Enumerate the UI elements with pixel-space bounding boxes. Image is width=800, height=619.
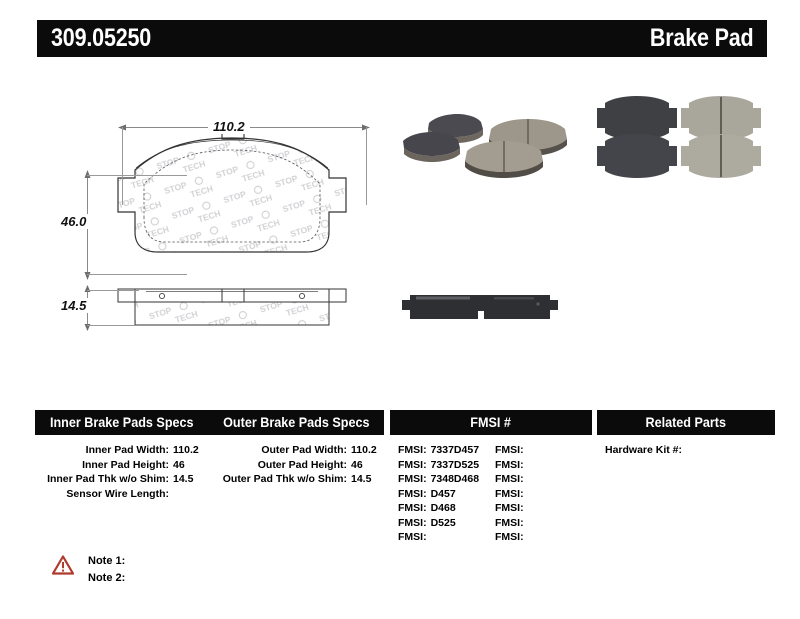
fmsi-label: FMSI: <box>398 458 431 473</box>
photo-pad-edge <box>398 278 563 338</box>
fmsi-row: FMSI: D457 <box>398 487 495 502</box>
fmsi-row: FMSI: 7337D457 <box>398 443 495 458</box>
fmsi-subcolumn-left: FMSI: 7337D457 FMSI: 7337D525 FMSI: 7348… <box>398 443 495 545</box>
fmsi-row: FMSI: 7348D468 <box>398 472 495 487</box>
pad-edge-view <box>80 275 390 345</box>
thickness-ext-top <box>87 290 139 291</box>
fmsi-row: FMSI: <box>495 487 592 502</box>
fmsi-label: FMSI: <box>398 487 431 502</box>
spec-value: 14.5 <box>173 472 193 487</box>
fmsi-label: FMSI: <box>398 530 431 545</box>
column-body-fmsi: FMSI: 7337D457 FMSI: 7337D525 FMSI: 7348… <box>390 435 592 545</box>
fmsi-row: FMSI: <box>495 458 592 473</box>
spec-label: Outer Pad Width: <box>209 443 351 458</box>
fmsi-subcolumn-right: FMSI: FMSI: FMSI: FMSI: <box>495 443 592 545</box>
fmsi-value: D457 <box>431 487 456 502</box>
column-outer-specs: Outer Brake Pads Specs Outer Pad Width: … <box>209 410 384 538</box>
fmsi-row: FMSI: <box>495 501 592 516</box>
column-body-outer: Outer Pad Width: 110.2 Outer Pad Height:… <box>209 435 384 487</box>
fmsi-label: FMSI: <box>495 443 528 458</box>
fmsi-value: D525 <box>431 516 456 531</box>
column-related-parts: Related Parts Hardware Kit #: <box>597 410 775 538</box>
fmsi-label: FMSI: <box>495 472 528 487</box>
thickness-dimension-label: 14.5 <box>56 298 91 313</box>
spec-table: Inner Brake Pads Specs Inner Pad Width: … <box>35 410 775 538</box>
photo-four-pads-top <box>583 90 773 185</box>
spec-row: Outer Pad Thk w/o Shim: 14.5 <box>209 472 384 487</box>
spec-value: 110.2 <box>173 443 199 458</box>
spec-label: Outer Pad Height: <box>209 458 351 473</box>
spec-row: Inner Pad Thk w/o Shim: 14.5 <box>35 472 209 487</box>
fmsi-row: FMSI: <box>398 530 495 545</box>
drawing-area: STOP TECH 110.2 46.0 <box>0 70 800 360</box>
spec-label: Inner Pad Thk w/o Shim: <box>35 472 173 487</box>
fmsi-row: FMSI: 7337D525 <box>398 458 495 473</box>
height-ext-top <box>87 175 187 176</box>
fmsi-row: FMSI: D525 <box>398 516 495 531</box>
notes-section: Note 1: Note 2: <box>52 553 125 587</box>
title-bar: 309.05250 Brake Pad <box>37 20 767 57</box>
fmsi-value: 7337D457 <box>431 443 479 458</box>
column-header-inner: Inner Brake Pads Specs <box>35 410 209 435</box>
fmsi-label: FMSI: <box>495 487 528 502</box>
column-header-outer: Outer Brake Pads Specs <box>209 410 384 435</box>
column-fmsi: FMSI # FMSI: 7337D457 FMSI: 7337D525 FMS… <box>390 410 592 538</box>
fmsi-label: FMSI: <box>495 516 528 531</box>
fmsi-row: FMSI: <box>495 516 592 531</box>
spec-label: Sensor Wire Length: <box>35 487 173 502</box>
spec-row: Sensor Wire Length: <box>35 487 209 502</box>
height-dimension-label: 46.0 <box>56 214 91 229</box>
column-header-related: Related Parts <box>597 410 775 435</box>
fmsi-label: FMSI: <box>495 530 528 545</box>
fmsi-label: FMSI: <box>398 472 431 487</box>
spec-value: 110.2 <box>351 443 377 458</box>
product-type: Brake Pad <box>649 24 753 53</box>
note-line-1: Note 1: <box>88 553 125 570</box>
width-dimension-label: 110.2 <box>208 119 250 134</box>
spec-row: Inner Pad Width: 110.2 <box>35 443 209 458</box>
width-ext-left <box>122 127 123 205</box>
spec-value: 14.5 <box>351 472 371 487</box>
spec-row: Inner Pad Height: 46 <box>35 458 209 473</box>
fmsi-value: 7348D468 <box>431 472 479 487</box>
warning-triangle-icon <box>52 555 74 575</box>
spec-label: Inner Pad Width: <box>35 443 173 458</box>
fmsi-label: FMSI: <box>398 443 431 458</box>
part-number: 309.05250 <box>51 24 151 53</box>
photo-four-pads-angled <box>395 95 585 185</box>
spec-row: Outer Pad Height: 46 <box>209 458 384 473</box>
related-part-row: Hardware Kit #: <box>597 443 775 458</box>
column-header-fmsi: FMSI # <box>390 410 592 435</box>
thickness-ext-bottom <box>87 325 139 326</box>
spec-label: Inner Pad Height: <box>35 458 173 473</box>
width-ext-right <box>366 127 367 205</box>
spec-row: Outer Pad Width: 110.2 <box>209 443 384 458</box>
column-body-inner: Inner Pad Width: 110.2 Inner Pad Height:… <box>35 435 209 501</box>
spec-value: 46 <box>173 458 185 473</box>
fmsi-label: FMSI: <box>495 501 528 516</box>
fmsi-label: FMSI: <box>495 458 528 473</box>
notes-lines: Note 1: Note 2: <box>88 553 125 587</box>
fmsi-value: 7337D525 <box>431 458 479 473</box>
spec-label: Outer Pad Thk w/o Shim: <box>209 472 351 487</box>
fmsi-row: FMSI: <box>495 443 592 458</box>
fmsi-row: FMSI: <box>495 472 592 487</box>
fmsi-label: FMSI: <box>398 501 431 516</box>
column-body-related: Hardware Kit #: <box>597 435 775 458</box>
fmsi-row: FMSI: <box>495 530 592 545</box>
fmsi-row: FMSI: D468 <box>398 501 495 516</box>
column-inner-specs: Inner Brake Pads Specs Inner Pad Width: … <box>35 410 209 538</box>
fmsi-label: FMSI: <box>398 516 431 531</box>
fmsi-value: D468 <box>431 501 456 516</box>
note-line-2: Note 2: <box>88 570 125 587</box>
spec-value: 46 <box>351 458 363 473</box>
